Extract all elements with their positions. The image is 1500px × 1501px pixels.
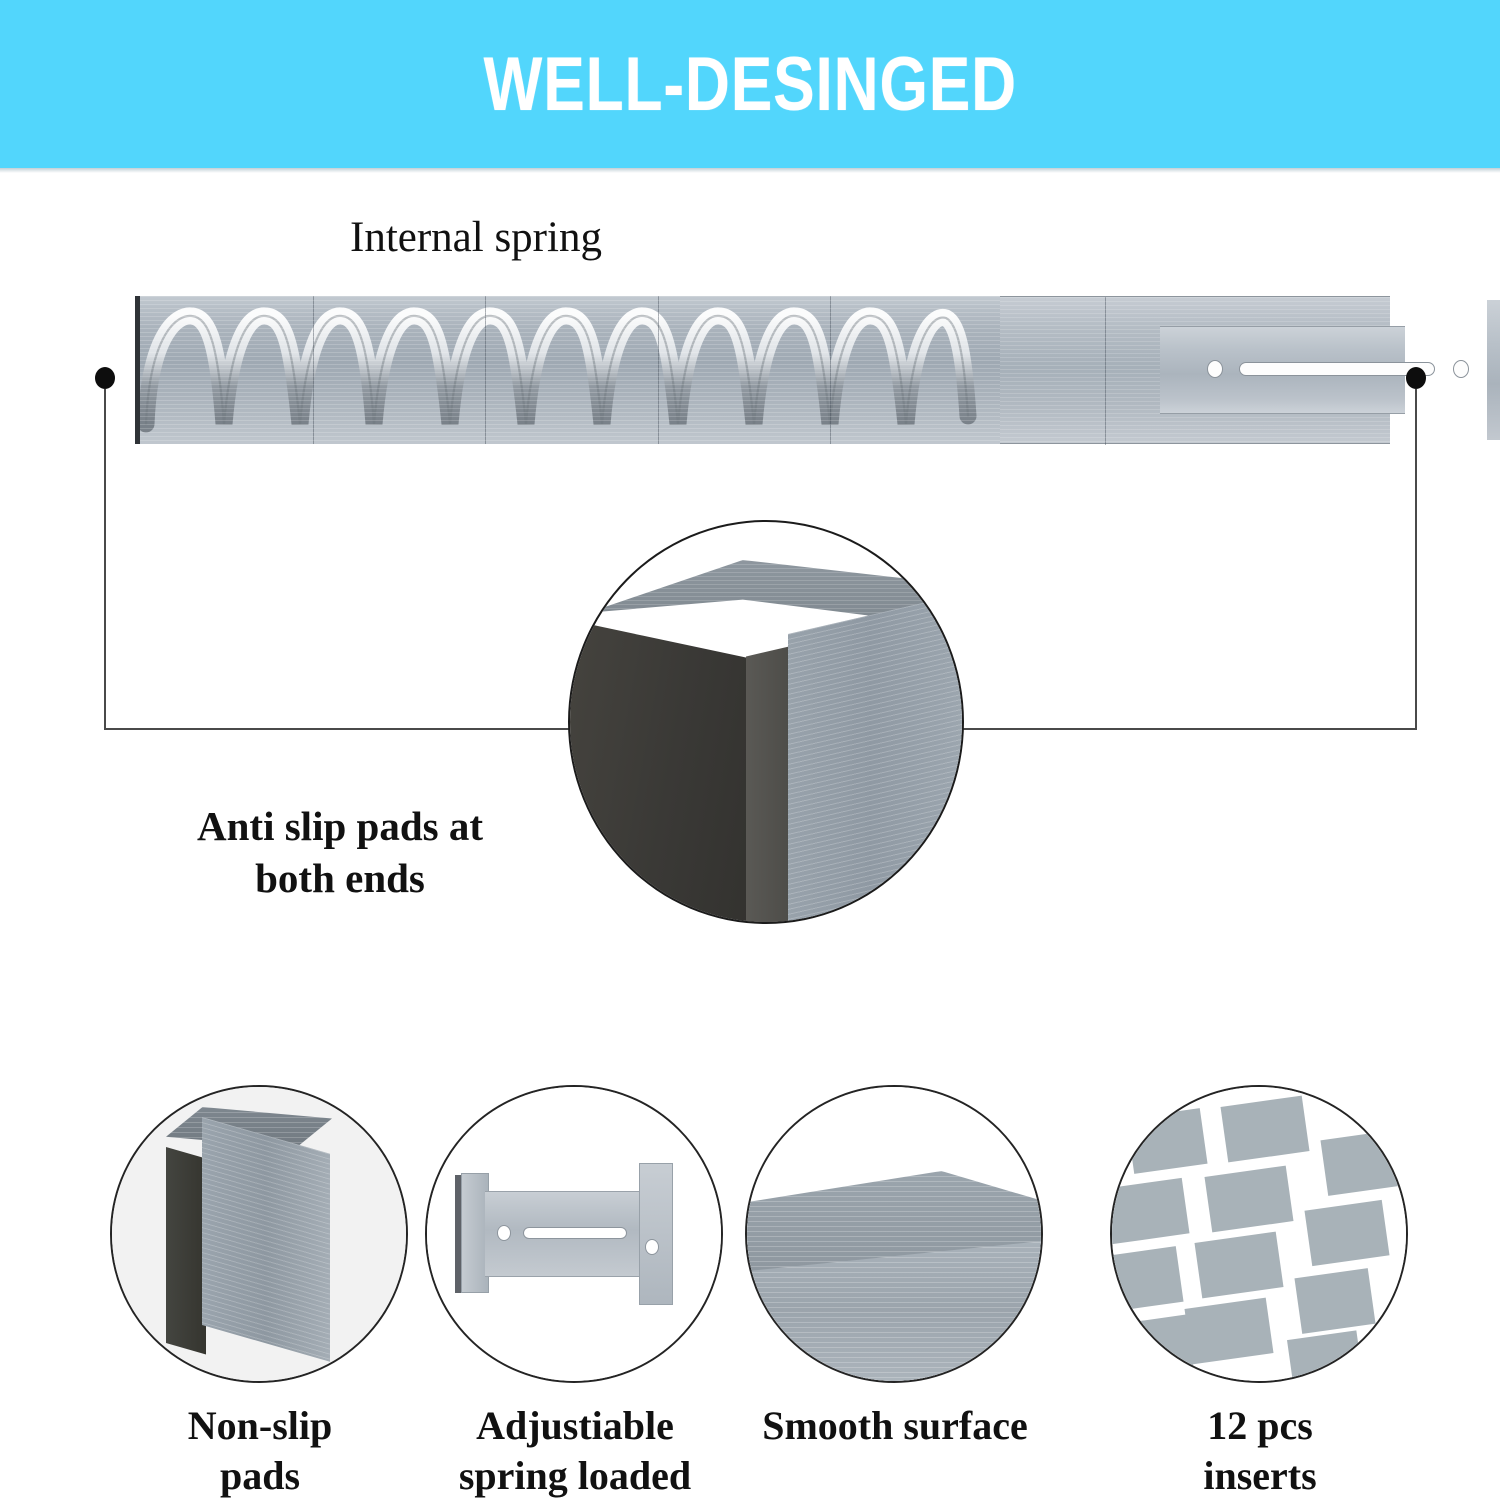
rod-panel-seam bbox=[1105, 297, 1106, 445]
rod-panel-seam bbox=[658, 296, 659, 444]
anti-slip-pad-detail-circle bbox=[568, 520, 964, 924]
feature-caption-line1: Smooth surface bbox=[745, 1401, 1045, 1451]
feature-image-circle bbox=[425, 1085, 723, 1383]
insert-tile bbox=[1304, 1200, 1389, 1266]
anti-slip-label-line1: Anti slip pads at bbox=[170, 800, 510, 852]
leader-dot-left bbox=[95, 367, 115, 389]
insert-tile bbox=[1320, 1130, 1401, 1196]
inserts-grid-pattern bbox=[1112, 1087, 1406, 1381]
anti-slip-pads-label: Anti slip pads at both ends bbox=[170, 800, 510, 905]
feature-smooth-surface: Smooth surface bbox=[745, 1085, 1039, 1379]
feature-caption-line2: spring loaded bbox=[425, 1451, 725, 1501]
feature-12-pcs-inserts: 12 pcs inserts bbox=[1110, 1085, 1404, 1379]
rod-front-face bbox=[202, 1117, 330, 1362]
feature-image-circle bbox=[110, 1085, 408, 1383]
internal-spring-coils-icon bbox=[140, 296, 1010, 444]
feature-caption: Non-slip pads bbox=[110, 1401, 410, 1501]
insert-tile bbox=[1110, 1246, 1184, 1312]
feature-image-circle bbox=[745, 1085, 1043, 1383]
insert-tile bbox=[1195, 1232, 1284, 1299]
insert-tile bbox=[1126, 1108, 1207, 1174]
rod-adjustment-hole bbox=[1207, 360, 1223, 378]
rod-right-end-cap bbox=[639, 1163, 673, 1305]
insert-tile bbox=[1119, 1315, 1194, 1376]
feature-caption-line2: pads bbox=[110, 1451, 410, 1501]
rod-adjustment-hole bbox=[1453, 360, 1469, 378]
rod-panel-seam bbox=[313, 296, 314, 444]
feature-caption-line1: Adjustiable bbox=[425, 1401, 725, 1451]
anti-slip-label-line2: both ends bbox=[170, 852, 510, 904]
rod-adjustment-hole bbox=[645, 1239, 659, 1255]
insert-tile bbox=[1205, 1166, 1294, 1233]
leader-line-left-vertical bbox=[104, 389, 106, 729]
rod-adjustment-slot bbox=[523, 1227, 627, 1239]
rod-body-translucent bbox=[135, 296, 1005, 444]
insert-tile bbox=[1110, 1178, 1190, 1244]
feature-caption: Smooth surface bbox=[745, 1401, 1045, 1451]
feature-caption: Adjustiable spring loaded bbox=[425, 1401, 725, 1501]
rod-panel-seam bbox=[485, 296, 486, 444]
rod-front-face bbox=[788, 581, 964, 924]
non-slip-pad-block bbox=[166, 1147, 206, 1354]
feature-image-circle bbox=[1110, 1085, 1408, 1383]
feature-caption-line2: inserts bbox=[1110, 1451, 1410, 1501]
leader-dot-right bbox=[1406, 367, 1426, 389]
tension-rod bbox=[135, 296, 1385, 444]
rod-adjustment-hole bbox=[497, 1225, 511, 1241]
feature-non-slip-pads: Non-slip pads bbox=[110, 1085, 404, 1379]
feature-adjustable-spring-loaded: Adjustiable spring loaded bbox=[425, 1085, 719, 1379]
leader-line-right-vertical bbox=[1415, 389, 1417, 729]
feature-caption-line1: Non-slip bbox=[110, 1401, 410, 1451]
insert-tile bbox=[1185, 1298, 1274, 1365]
rod-panel-seam bbox=[830, 296, 831, 444]
feature-caption: 12 pcs inserts bbox=[1110, 1401, 1410, 1501]
insert-tile bbox=[1294, 1268, 1375, 1334]
insert-tile bbox=[1221, 1096, 1310, 1163]
insert-tile bbox=[1287, 1330, 1363, 1383]
rod-end-cap bbox=[1487, 300, 1500, 440]
feature-caption-line1: 12 pcs bbox=[1110, 1401, 1410, 1451]
